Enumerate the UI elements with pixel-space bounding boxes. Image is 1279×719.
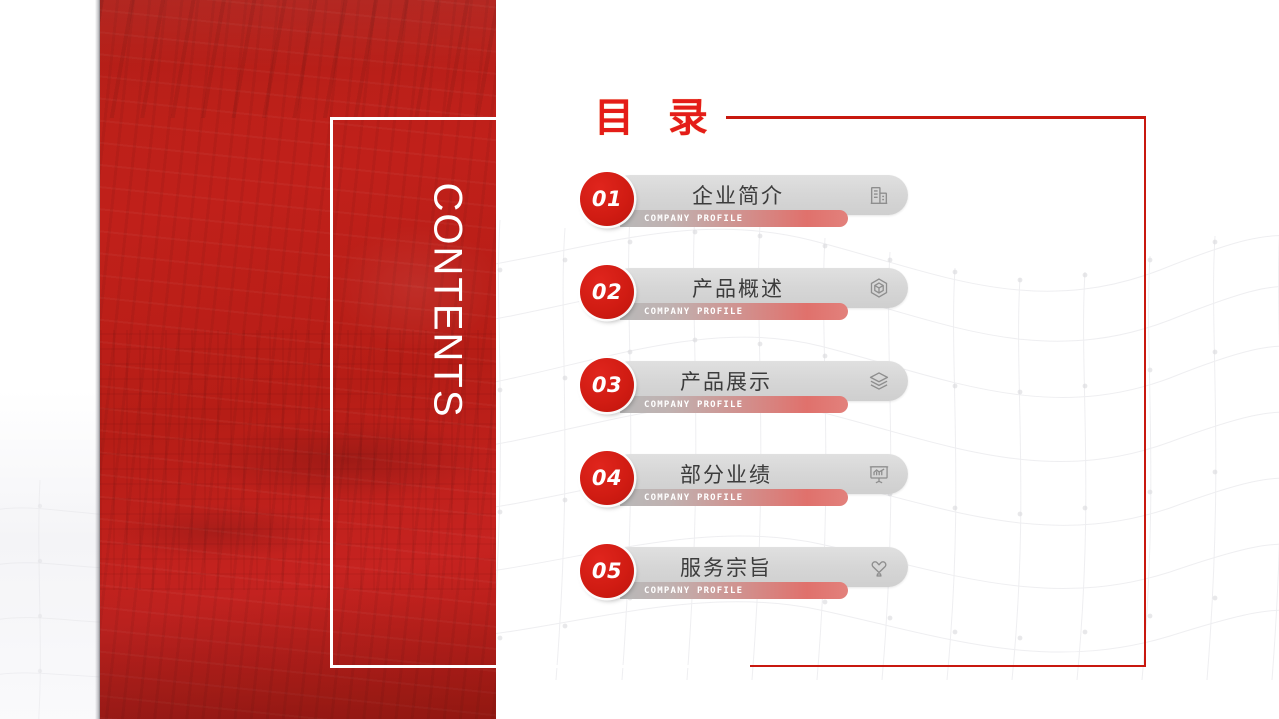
toc-sublabel-05: COMPANY PROFILE: [644, 586, 743, 596]
contents-vertical-title: CONTENTS: [417, 185, 477, 415]
photo-ceiling-beams: [100, 0, 496, 118]
building-icon: [868, 184, 890, 206]
toc-subbar-03: COMPANY PROFILE: [620, 396, 848, 413]
toc-subbar-02: COMPANY PROFILE: [620, 303, 848, 320]
toc-number-02: 02: [592, 280, 622, 304]
toc-number-badge-03[interactable]: 03: [580, 358, 634, 412]
heart-award-icon: [868, 556, 890, 578]
layers-icon: [868, 370, 890, 392]
toc-label-02: 产品概述: [692, 273, 784, 303]
toc-pill-03[interactable]: 产品展示: [610, 361, 908, 401]
toc-item-01[interactable]: 企业简介 COMPANY PROFILE 01: [580, 172, 1000, 265]
toc-sublabel-02: COMPANY PROFILE: [644, 307, 743, 317]
slide-canvas: CONTENTS 目 录 企业简介 COMPANY PROFIL: [0, 0, 1279, 719]
presentation-chart-icon: [868, 463, 890, 485]
toc-number-05: 05: [592, 559, 622, 583]
toc-subbar-01: COMPANY PROFILE: [620, 210, 848, 227]
toc-label-03: 产品展示: [680, 366, 772, 396]
cube-hexagon-icon: [868, 277, 890, 299]
contents-vertical-label: CONTENTS: [425, 182, 470, 418]
toc-label-04: 部分业绩: [680, 459, 772, 489]
toc-item-05[interactable]: 服务宗旨 COMPANY PROFILE 05: [580, 544, 1000, 637]
toc-number-04: 04: [592, 466, 622, 490]
toc-subbar-05: COMPANY PROFILE: [620, 582, 848, 599]
toc-item-03[interactable]: 产品展示 COMPANY PROFILE 03: [580, 358, 1000, 451]
toc-number-badge-02[interactable]: 02: [580, 265, 634, 319]
background-soft-gradient: [0, 390, 110, 719]
toc-label-05: 服务宗旨: [680, 552, 772, 582]
table-of-contents-list: 企业简介 COMPANY PROFILE 01 产: [580, 172, 1000, 637]
toc-sublabel-03: COMPANY PROFILE: [644, 400, 743, 410]
title-divider-rule: [726, 116, 1146, 119]
toc-item-04[interactable]: 部分业绩 COMPANY PROFILE 04: [580, 451, 1000, 544]
toc-label-01: 企业简介: [692, 180, 784, 210]
toc-pill-05[interactable]: 服务宗旨: [610, 547, 908, 587]
toc-number-badge-01[interactable]: 01: [580, 172, 634, 226]
toc-sublabel-01: COMPANY PROFILE: [644, 214, 743, 224]
toc-number-badge-04[interactable]: 04: [580, 451, 634, 505]
toc-number-03: 03: [592, 373, 622, 397]
toc-pill-04[interactable]: 部分业绩: [610, 454, 908, 494]
toc-sublabel-04: COMPANY PROFILE: [644, 493, 743, 503]
toc-pill-01[interactable]: 企业简介: [610, 175, 908, 215]
toc-number-badge-05[interactable]: 05: [580, 544, 634, 598]
toc-item-02[interactable]: 产品概述 COMPANY PROFILE 02: [580, 265, 1000, 358]
toc-subbar-04: COMPANY PROFILE: [620, 489, 848, 506]
toc-pill-02[interactable]: 产品概述: [610, 268, 908, 308]
page-title: 目 录: [594, 92, 718, 144]
page-title-text: 目 录: [594, 98, 718, 138]
toc-number-01: 01: [592, 187, 622, 211]
